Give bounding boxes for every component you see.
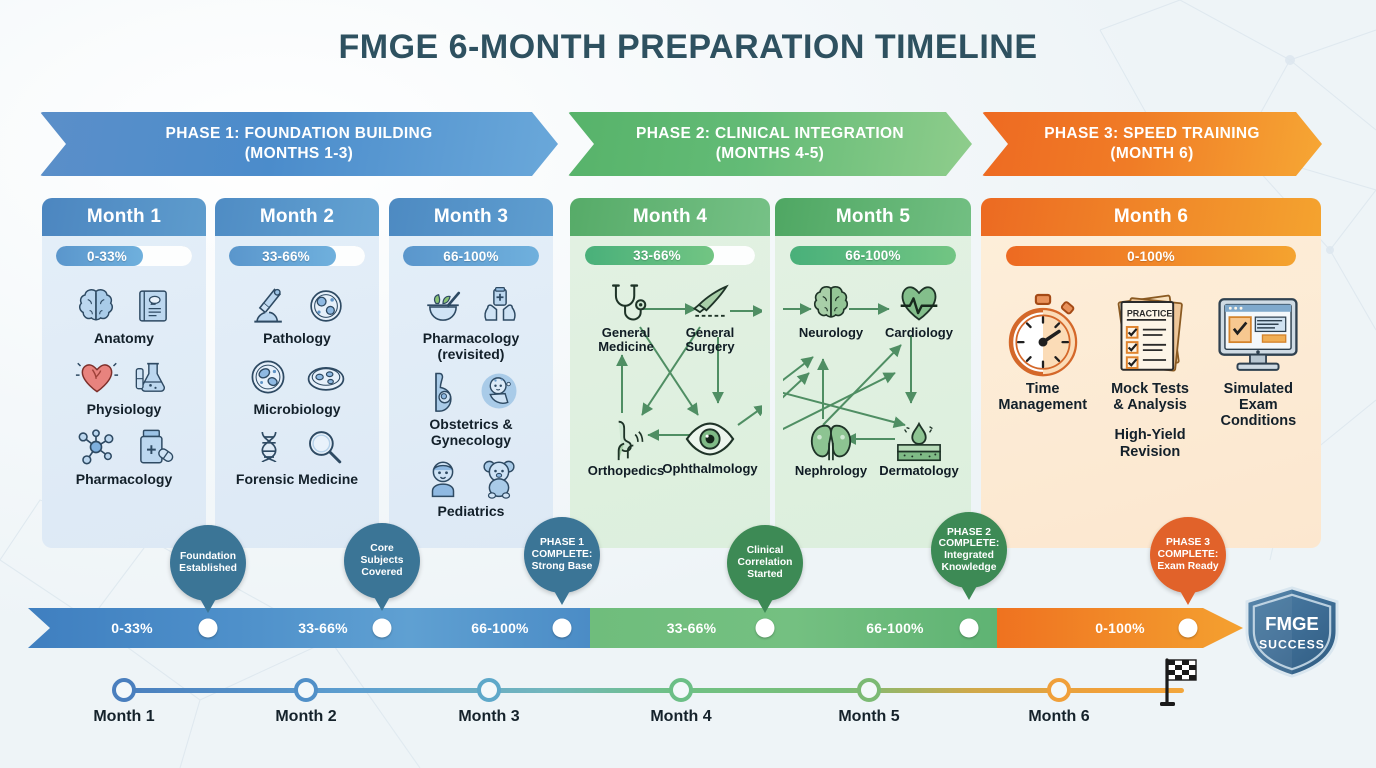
axis-label-6: Month 6 — [1028, 708, 1089, 726]
brain-icon — [809, 281, 853, 325]
month-6-body: 0-100% — [981, 236, 1321, 548]
milestone-phase-2-complete[interactable]: PHASE 2 COMPLETE: Integrated Knowledge — [931, 512, 1007, 588]
phase-2-line2: (MONTHS 4-5) — [716, 144, 824, 164]
arrow-dot-1 — [199, 619, 218, 638]
node-label: Dermatology — [879, 464, 958, 478]
month-2-body: 33-66% Pathology Microbiology — [215, 236, 379, 548]
eye-icon — [685, 417, 735, 461]
progress-arrow-bar[interactable]: 0-33% 33-66% 66-100% 33-66% 66-100% 0-10… — [28, 608, 1243, 648]
month-4-body: 33-66% — [570, 236, 770, 548]
month-1-title: Month 1 — [42, 198, 206, 236]
milestone-clinical-correlation-started[interactable]: Clinical Correlation Started — [727, 525, 803, 601]
month-card-4[interactable]: Month 4 33-66% — [570, 198, 770, 548]
phase-1-line1: PHASE 1: FOUNDATION BUILDING — [166, 124, 433, 144]
axis-label-3: Month 3 — [458, 708, 519, 726]
milestone-phase-1-complete[interactable]: PHASE 1 COMPLETE: Strong Base — [524, 517, 600, 593]
phase-banner-1[interactable]: PHASE 1: FOUNDATION BUILDING (MONTHS 1-3… — [40, 112, 558, 176]
arrow-dot-5 — [960, 619, 979, 638]
arrow-dot-2 — [373, 619, 392, 638]
fmge-success-shield-badge[interactable]: FMGE SUCCESS — [1243, 586, 1341, 678]
shield-line2: SUCCESS — [1259, 638, 1325, 652]
milestone-core-subjects-covered[interactable]: Core Subjects Covered — [344, 523, 420, 599]
child-icon — [422, 455, 464, 501]
month-3-progress-label: 66-100% — [403, 246, 539, 266]
month-card-1[interactable]: Month 1 0-33% Anatomy Physiology — [42, 198, 206, 548]
month-5-progress-label: 66-100% — [790, 246, 956, 265]
arrow-dot-4 — [756, 619, 775, 638]
node-general-surgery[interactable]: General Surgery — [662, 281, 758, 354]
axis-node-4[interactable] — [669, 678, 693, 702]
item-high-yield-revision: High-Yield Revision — [1114, 427, 1185, 459]
milestone-phase-3-complete[interactable]: PHASE 3 COMPLETE: Exam Ready — [1150, 517, 1226, 593]
newborn-icon — [478, 368, 520, 414]
subject-label: Forensic Medicine — [236, 472, 358, 488]
month-1-progress-bar: 0-33% — [56, 246, 192, 266]
axis-line — [124, 688, 1184, 693]
microscope-icon — [247, 284, 291, 328]
subject-forensic-medicine[interactable]: Forensic Medicine — [236, 419, 358, 488]
month-2-progress-label: 33-66% — [229, 246, 365, 266]
axis-node-6[interactable] — [1047, 678, 1071, 702]
month-5-network: Neurology Cardiology Nephrology Dermatol… — [783, 275, 963, 536]
month-6-title: Month 6 — [981, 198, 1321, 236]
kidneys-icon — [806, 421, 856, 463]
item-mock-tests[interactable]: PRACTICE — [1098, 292, 1201, 460]
bacteria-icon — [246, 355, 290, 399]
month-4-progress-label: 33-66% — [585, 246, 754, 265]
subject-pediatrics[interactable]: Pediatrics — [422, 451, 520, 520]
node-label: Cardiology — [885, 326, 953, 340]
month-6-progress-label: 0-100% — [1006, 246, 1297, 266]
phase-banner-2[interactable]: PHASE 2: CLINICAL INTEGRATION (MONTHS 4-… — [568, 112, 972, 176]
page-title: FMGE 6-MONTH PREPARATION TIMELINE — [0, 28, 1376, 67]
month-5-title: Month 5 — [775, 198, 971, 236]
month-3-title: Month 3 — [389, 198, 553, 236]
month-2-progress-bar: 33-66% — [229, 246, 365, 266]
phase-2-line1: PHASE 2: CLINICAL INTEGRATION — [636, 124, 904, 144]
subject-label: Pathology — [263, 331, 331, 347]
molecule-icon — [73, 425, 119, 469]
heart-icon — [75, 355, 119, 399]
axis-node-2[interactable] — [294, 678, 318, 702]
subject-pathology[interactable]: Pathology — [247, 278, 347, 347]
node-general-medicine[interactable]: General Medicine — [578, 281, 674, 354]
node-label: General Medicine — [578, 326, 674, 354]
month-columns: Month 1 0-33% Anatomy Physiology — [0, 198, 1376, 548]
month-5-progress-bar: 66-100% — [790, 246, 956, 265]
skin-layer-icon — [895, 421, 943, 463]
node-label: Neurology — [799, 326, 863, 340]
bone-joint-icon — [604, 417, 648, 463]
phase-3-line2: (MONTH 6) — [1110, 144, 1193, 164]
shield-line1: FMGE — [1265, 613, 1319, 634]
mortar-pestle-icon — [421, 286, 465, 328]
scalpel-icon — [687, 281, 733, 325]
axis-node-1[interactable] — [112, 678, 136, 702]
subject-physiology[interactable]: Physiology — [75, 349, 173, 418]
node-nephrology[interactable]: Nephrology — [783, 421, 879, 478]
node-label: Nephrology — [795, 464, 867, 478]
month-4-network: General Medicine General Surgery Orthope… — [578, 275, 762, 536]
subject-label: Anatomy — [94, 331, 154, 347]
axis-node-3[interactable] — [477, 678, 501, 702]
month-card-6[interactable]: Month 6 0-100% — [981, 198, 1321, 548]
node-ophthalmology[interactable]: Ophthalmology — [662, 417, 758, 476]
node-neurology[interactable]: Neurology — [783, 281, 879, 340]
pregnancy-icon — [422, 368, 464, 414]
magnifier-icon — [303, 425, 345, 469]
item-simulated-exam[interactable]: Simulated Exam Conditions — [1208, 292, 1309, 430]
item-label: Time Management — [998, 381, 1087, 413]
subject-anatomy[interactable]: Anatomy — [74, 278, 174, 347]
phase-banner-3[interactable]: PHASE 3: SPEED TRAINING (MONTH 6) — [982, 112, 1322, 176]
subject-label: Pediatrics — [438, 504, 505, 520]
node-label: Orthopedics — [588, 464, 665, 478]
node-cardiology[interactable]: Cardiology — [871, 281, 967, 340]
month-1-progress-label: 0-33% — [56, 246, 192, 266]
subject-label: Microbiology — [253, 402, 340, 418]
stopwatch-icon — [1003, 293, 1083, 377]
pill-bottle-icon — [133, 425, 175, 469]
phase-1-line2: (MONTHS 1-3) — [245, 144, 353, 164]
node-label: Ophthalmology — [662, 462, 757, 476]
item-label: Mock Tests & Analysis — [1111, 381, 1189, 413]
anatomy-book-icon — [132, 284, 174, 328]
flask-icon — [133, 355, 173, 399]
brain-icon — [74, 284, 118, 328]
arrow-dot-3 — [553, 619, 572, 638]
subject-label: Physiology — [87, 402, 162, 418]
axis-label-2: Month 2 — [275, 708, 336, 726]
axis-label-1: Month 1 — [93, 708, 154, 726]
subject-label: Obstetrics & Gynecology — [397, 417, 545, 448]
phase-3-line1: PHASE 3: SPEED TRAINING — [1044, 124, 1260, 144]
month-axis: Month 1 Month 2 Month 3 Month 4 Month 5 … — [0, 668, 1376, 768]
stethoscope-icon — [604, 281, 648, 325]
month-5-body: 66-100% — [775, 236, 971, 548]
item-label: Simulated Exam Conditions — [1220, 381, 1296, 430]
month-card-2[interactable]: Month 2 33-66% Pathology Microbiology — [215, 198, 379, 548]
axis-label-4: Month 4 — [650, 708, 711, 726]
month-1-body: 0-33% Anatomy Physiology — [42, 236, 206, 548]
heart-pulse-icon — [896, 281, 942, 325]
monitor-exam-icon — [1216, 295, 1300, 375]
subject-obstetrics-gynecology[interactable]: Obstetrics & Gynecology — [397, 364, 545, 448]
subject-label: Pharmacology (revisited) — [423, 331, 519, 362]
subject-pharmacology[interactable]: Pharmacology — [73, 419, 175, 488]
node-dermatology[interactable]: Dermatology — [871, 421, 967, 478]
svg-text:PRACTICE: PRACTICE — [1127, 308, 1173, 318]
node-orthopedics[interactable]: Orthopedics — [578, 417, 674, 478]
month-card-3[interactable]: Month 3 66-100% Pharmacology (revisited)… — [389, 198, 553, 548]
axis-label-5: Month 5 — [838, 708, 899, 726]
arrow-segment-6: 0-100% — [997, 608, 1243, 648]
cell-dish-icon — [305, 284, 347, 328]
month-4-title: Month 4 — [570, 198, 770, 236]
milestone-foundation-established[interactable]: Foundation Established — [170, 525, 246, 601]
dna-icon — [249, 425, 289, 469]
medicine-hands-icon — [479, 284, 521, 328]
phase-banner-row: PHASE 1: FOUNDATION BUILDING (MONTHS 1-3… — [0, 112, 1376, 180]
node-label: General Surgery — [662, 326, 758, 354]
month-3-progress-bar: 66-100% — [403, 246, 539, 266]
month-card-5[interactable]: Month 5 66-100% — [775, 198, 971, 548]
month-3-body: 66-100% Pharmacology (revisited) Obstetr… — [389, 236, 553, 548]
month-2-title: Month 2 — [215, 198, 379, 236]
subject-label: Pharmacology — [76, 472, 172, 488]
subject-microbiology[interactable]: Microbiology — [246, 349, 348, 418]
month-4-progress-bar: 33-66% — [585, 246, 754, 265]
petri-dish-icon — [304, 355, 348, 399]
item-time-management[interactable]: Time Management — [993, 292, 1092, 413]
subject-pharmacology-revisited[interactable]: Pharmacology (revisited) — [421, 278, 521, 362]
practice-papers-icon: PRACTICE — [1109, 293, 1191, 377]
checkered-flag-icon — [1155, 656, 1201, 712]
teddy-bear-icon — [478, 455, 520, 501]
arrow-dot-6 — [1179, 619, 1198, 638]
month-6-progress-bar: 0-100% — [1006, 246, 1297, 266]
axis-node-5[interactable] — [857, 678, 881, 702]
